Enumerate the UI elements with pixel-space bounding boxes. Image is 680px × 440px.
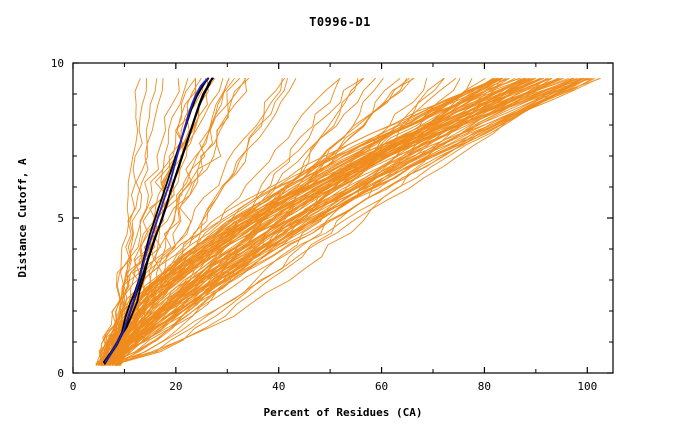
- x-tick-label: 20: [169, 380, 182, 393]
- x-tick-label: 100: [577, 380, 597, 393]
- chart-container: T0996-D1 0204060801000510Percent of Resi…: [0, 0, 680, 440]
- y-tick-label: 0: [57, 367, 64, 380]
- x-tick-label: 80: [478, 380, 491, 393]
- x-tick-label: 0: [70, 380, 77, 393]
- y-tick-label: 10: [51, 57, 64, 70]
- plot-canvas: 0204060801000510Percent of Residues (CA)…: [0, 0, 680, 440]
- y-tick-label: 5: [57, 212, 64, 225]
- x-axis-title: Percent of Residues (CA): [264, 406, 423, 419]
- orange-series-layer: [96, 79, 600, 366]
- y-axis-title: Distance Cutoff, A: [16, 158, 29, 278]
- x-tick-label: 60: [375, 380, 388, 393]
- x-tick-label: 40: [272, 380, 285, 393]
